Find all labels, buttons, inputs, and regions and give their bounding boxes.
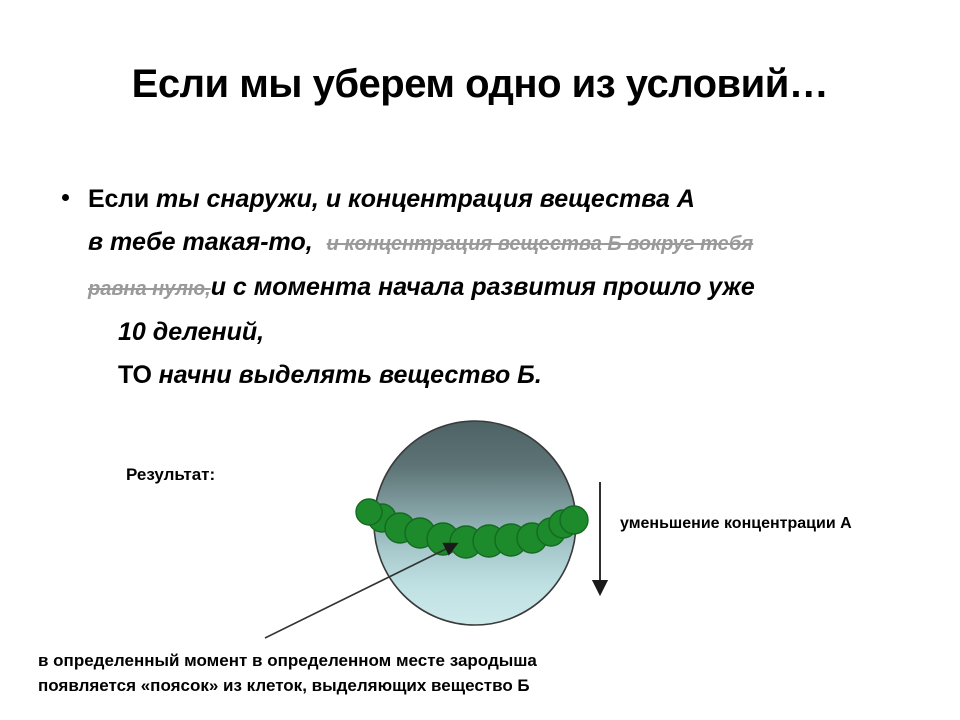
diagram-caption: в определенный момент в определенном мес…	[38, 648, 758, 698]
condition-line-2: в тебе такая-то, и концентрация вещества…	[88, 221, 938, 266]
condition-line-4-text: 10 делений,	[118, 318, 264, 346]
condition-line-2-text: в тебе такая-то,	[88, 228, 313, 256]
caption-line-2: появляется «поясок» из клеток, выделяющи…	[38, 673, 758, 698]
conclusion-line: ТО начни выделять вещество Б.	[88, 354, 938, 397]
green-cell	[356, 499, 382, 525]
condition-line-1: Если ты снаружи, и концентрация вещества…	[88, 178, 938, 221]
slide-canvas: Если мы уберем одно из условий… Если ты …	[0, 0, 960, 720]
condition-line-3-struck: равна нулю,	[88, 278, 211, 300]
conclusion-line-text: начни выделять вещество Б.	[159, 361, 542, 389]
condition-line-2-struck: и концентрация вещества Б вокруг тебя	[327, 233, 754, 255]
green-cell	[560, 506, 588, 534]
condition-line-3-text: и с момента начала развития прошло уже	[211, 273, 755, 301]
keyword-if: Если	[88, 185, 149, 213]
condition-line-1-text: ты снаружи, и концентрация вещества А	[156, 185, 695, 213]
page-title: Если мы уберем одно из условий…	[0, 62, 960, 107]
condition-line-4: 10 делений,	[88, 311, 938, 354]
keyword-then: ТО	[118, 361, 152, 389]
body-text-block: Если ты снаружи, и концентрация вещества…	[58, 178, 938, 397]
caption-line-1: в определенный момент в определенном мес…	[38, 648, 758, 673]
bullet-item: Если ты снаружи, и концентрация вещества…	[58, 178, 938, 397]
condition-line-3: равна нулю,и с момента начала развития п…	[88, 266, 938, 311]
bullet-dot-icon	[62, 194, 69, 201]
